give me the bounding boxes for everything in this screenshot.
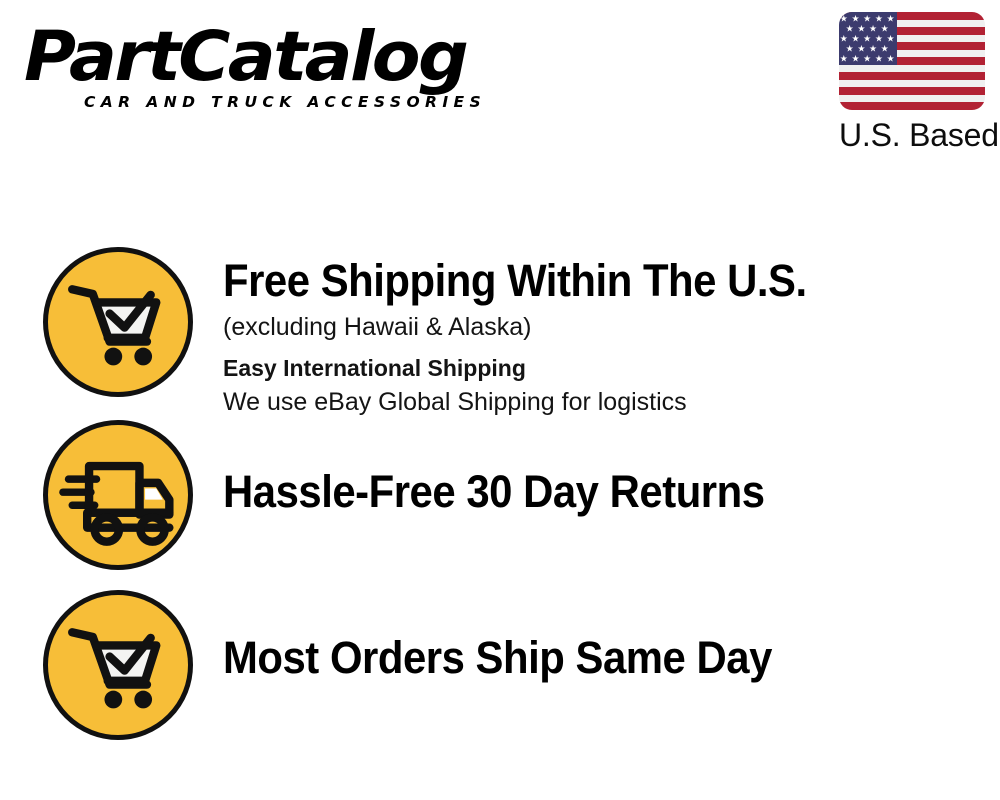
flag-star: ★ [875,14,883,23]
flag-stripe [839,72,985,80]
shopping-cart-check-icon [43,247,193,397]
flag-star: ★ [857,44,865,53]
benefit-subline: (excluding Hawaii & Alaska) [223,310,993,344]
flag-star: ★ [851,54,859,63]
benefit-headline: Hassle-Free 30 Day Returns [223,466,939,518]
flag-star: ★ [863,14,871,23]
flag-star: ★ [840,54,848,63]
us-based-seller-badge: ★ ★ ★ ★ ★ ★ ★ ★ ★ ★ ★ ★ ★ ★ ★ ★ ★ ★ ★ ★ [839,12,985,154]
benefit-subline: We use eBay Global Shipping for logistic… [223,385,993,419]
flag-star: ★ [851,14,859,23]
brand-logo[interactable]: PartCatalog CAR AND TRUCK ACCESSORIES [24,22,494,111]
us-based-seller-label: U.S. Based Seller [839,116,985,154]
flag-star: ★ [840,14,848,23]
delivery-truck-icon [43,420,193,570]
shopping-cart-check-icon [43,590,193,740]
flag-star: ★ [846,44,854,53]
benefit-subline-strong: Easy International Shipping [223,352,993,385]
benefit-text: Free Shipping Within The U.S. (excluding… [223,255,993,419]
flag-star: ★ [863,34,871,43]
benefit-headline: Most Orders Ship Same Day [223,632,939,684]
flag-star: ★ [869,24,877,33]
flag-star: ★ [846,24,854,33]
flag-star: ★ [851,34,859,43]
flag-star: ★ [869,44,877,53]
benefit-text: Most Orders Ship Same Day [223,632,993,684]
brand-wordmark: PartCatalog [24,22,508,92]
benefit-text: Hassle-Free 30 Day Returns [223,466,993,518]
flag-stripe [839,102,985,110]
flag-star: ★ [887,14,895,23]
flag-star: ★ [857,24,865,33]
benefit-headline: Free Shipping Within The U.S. [223,255,939,307]
flag-star: ★ [881,44,889,53]
flag-star: ★ [875,54,883,63]
page-header: PartCatalog CAR AND TRUCK ACCESSORIES ★ … [0,0,1000,175]
flag-star: ★ [875,34,883,43]
flag-star: ★ [840,34,848,43]
flag-star: ★ [887,54,895,63]
flag-star: ★ [863,54,871,63]
us-flag-icon: ★ ★ ★ ★ ★ ★ ★ ★ ★ ★ ★ ★ ★ ★ ★ ★ ★ ★ ★ ★ [839,12,985,110]
flag-stripe [839,87,985,95]
flag-star: ★ [887,34,895,43]
flag-star: ★ [881,24,889,33]
flag-canton: ★ ★ ★ ★ ★ ★ ★ ★ ★ ★ ★ ★ ★ ★ ★ ★ ★ ★ ★ ★ [839,12,897,65]
